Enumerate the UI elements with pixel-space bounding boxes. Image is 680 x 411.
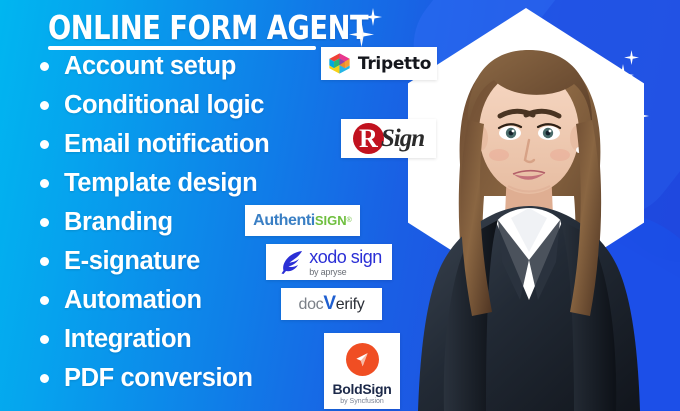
- logo-xodo-sign: xodo sign by apryse: [266, 244, 392, 280]
- list-item: Automation: [40, 281, 269, 320]
- logo-rsign: R Sign: [341, 119, 436, 158]
- list-item: E-signature: [40, 242, 269, 281]
- feature-label: Account setup: [64, 52, 236, 81]
- feature-label: E-signature: [64, 247, 200, 276]
- docverify-wordmark: docVerify: [298, 293, 364, 315]
- tripetto-cube-icon: [327, 51, 352, 76]
- bullet-icon: [40, 140, 49, 149]
- list-item: PDF conversion: [40, 359, 269, 398]
- docverify-text-v: V: [323, 293, 335, 314]
- paper-plane-icon: [346, 343, 379, 376]
- feature-label: PDF conversion: [64, 364, 253, 393]
- bullet-icon: [40, 218, 49, 227]
- gig-thumbnail-poster: ONLINE FORM AGENT Account setup Conditio…: [0, 0, 680, 411]
- logo-authentisign: AuthentiSIGN®: [245, 205, 360, 236]
- logo-tripetto: Tripetto: [321, 47, 437, 80]
- xodo-wordmark: xodo sign: [309, 248, 382, 266]
- bullet-icon: [40, 62, 49, 71]
- feature-label: Integration: [64, 325, 191, 354]
- feature-label: Template design: [64, 169, 257, 198]
- logo-boldsign: BoldSign by Syncfusion: [324, 333, 400, 409]
- list-item: Conditional logic: [40, 86, 269, 125]
- list-item: Account setup: [40, 47, 269, 86]
- docverify-text-doc: doc: [298, 296, 323, 313]
- docverify-text-erify: erify: [336, 296, 365, 313]
- person-portrait: [398, 0, 680, 411]
- bullet-icon: [40, 179, 49, 188]
- tripetto-wordmark: Tripetto: [358, 54, 431, 74]
- page-title: ONLINE FORM AGENT: [48, 11, 368, 44]
- registered-trademark-icon: ®: [347, 217, 352, 224]
- feather-pen-icon: [280, 249, 304, 275]
- feature-label: Branding: [64, 208, 173, 237]
- paper-plane-glyph: [352, 350, 372, 370]
- boldsign-subtitle: by Syncfusion: [340, 398, 384, 405]
- rsign-red-circle-icon: R: [353, 123, 384, 154]
- bullet-icon: [40, 335, 49, 344]
- bullet-icon: [40, 257, 49, 266]
- list-item: Branding: [40, 203, 269, 242]
- feature-label: Conditional logic: [64, 91, 264, 120]
- bullet-icon: [40, 374, 49, 383]
- authentisign-wordmark-primary: Authenti: [253, 212, 315, 230]
- boldsign-wordmark: BoldSign: [332, 381, 391, 397]
- xodo-subtitle: by apryse: [309, 268, 382, 277]
- feature-label: Email notification: [64, 130, 269, 159]
- list-item: Integration: [40, 320, 269, 359]
- feature-label: Automation: [64, 286, 202, 315]
- logo-docverify: docVerify: [281, 288, 382, 320]
- feature-list: Account setup Conditional logic Email no…: [40, 47, 269, 398]
- list-item: Template design: [40, 164, 269, 203]
- list-item: Email notification: [40, 125, 269, 164]
- bullet-icon: [40, 296, 49, 305]
- bullet-icon: [40, 101, 49, 110]
- authentisign-wordmark-secondary: SIGN: [315, 213, 347, 228]
- rsign-wordmark: Sign: [381, 125, 424, 153]
